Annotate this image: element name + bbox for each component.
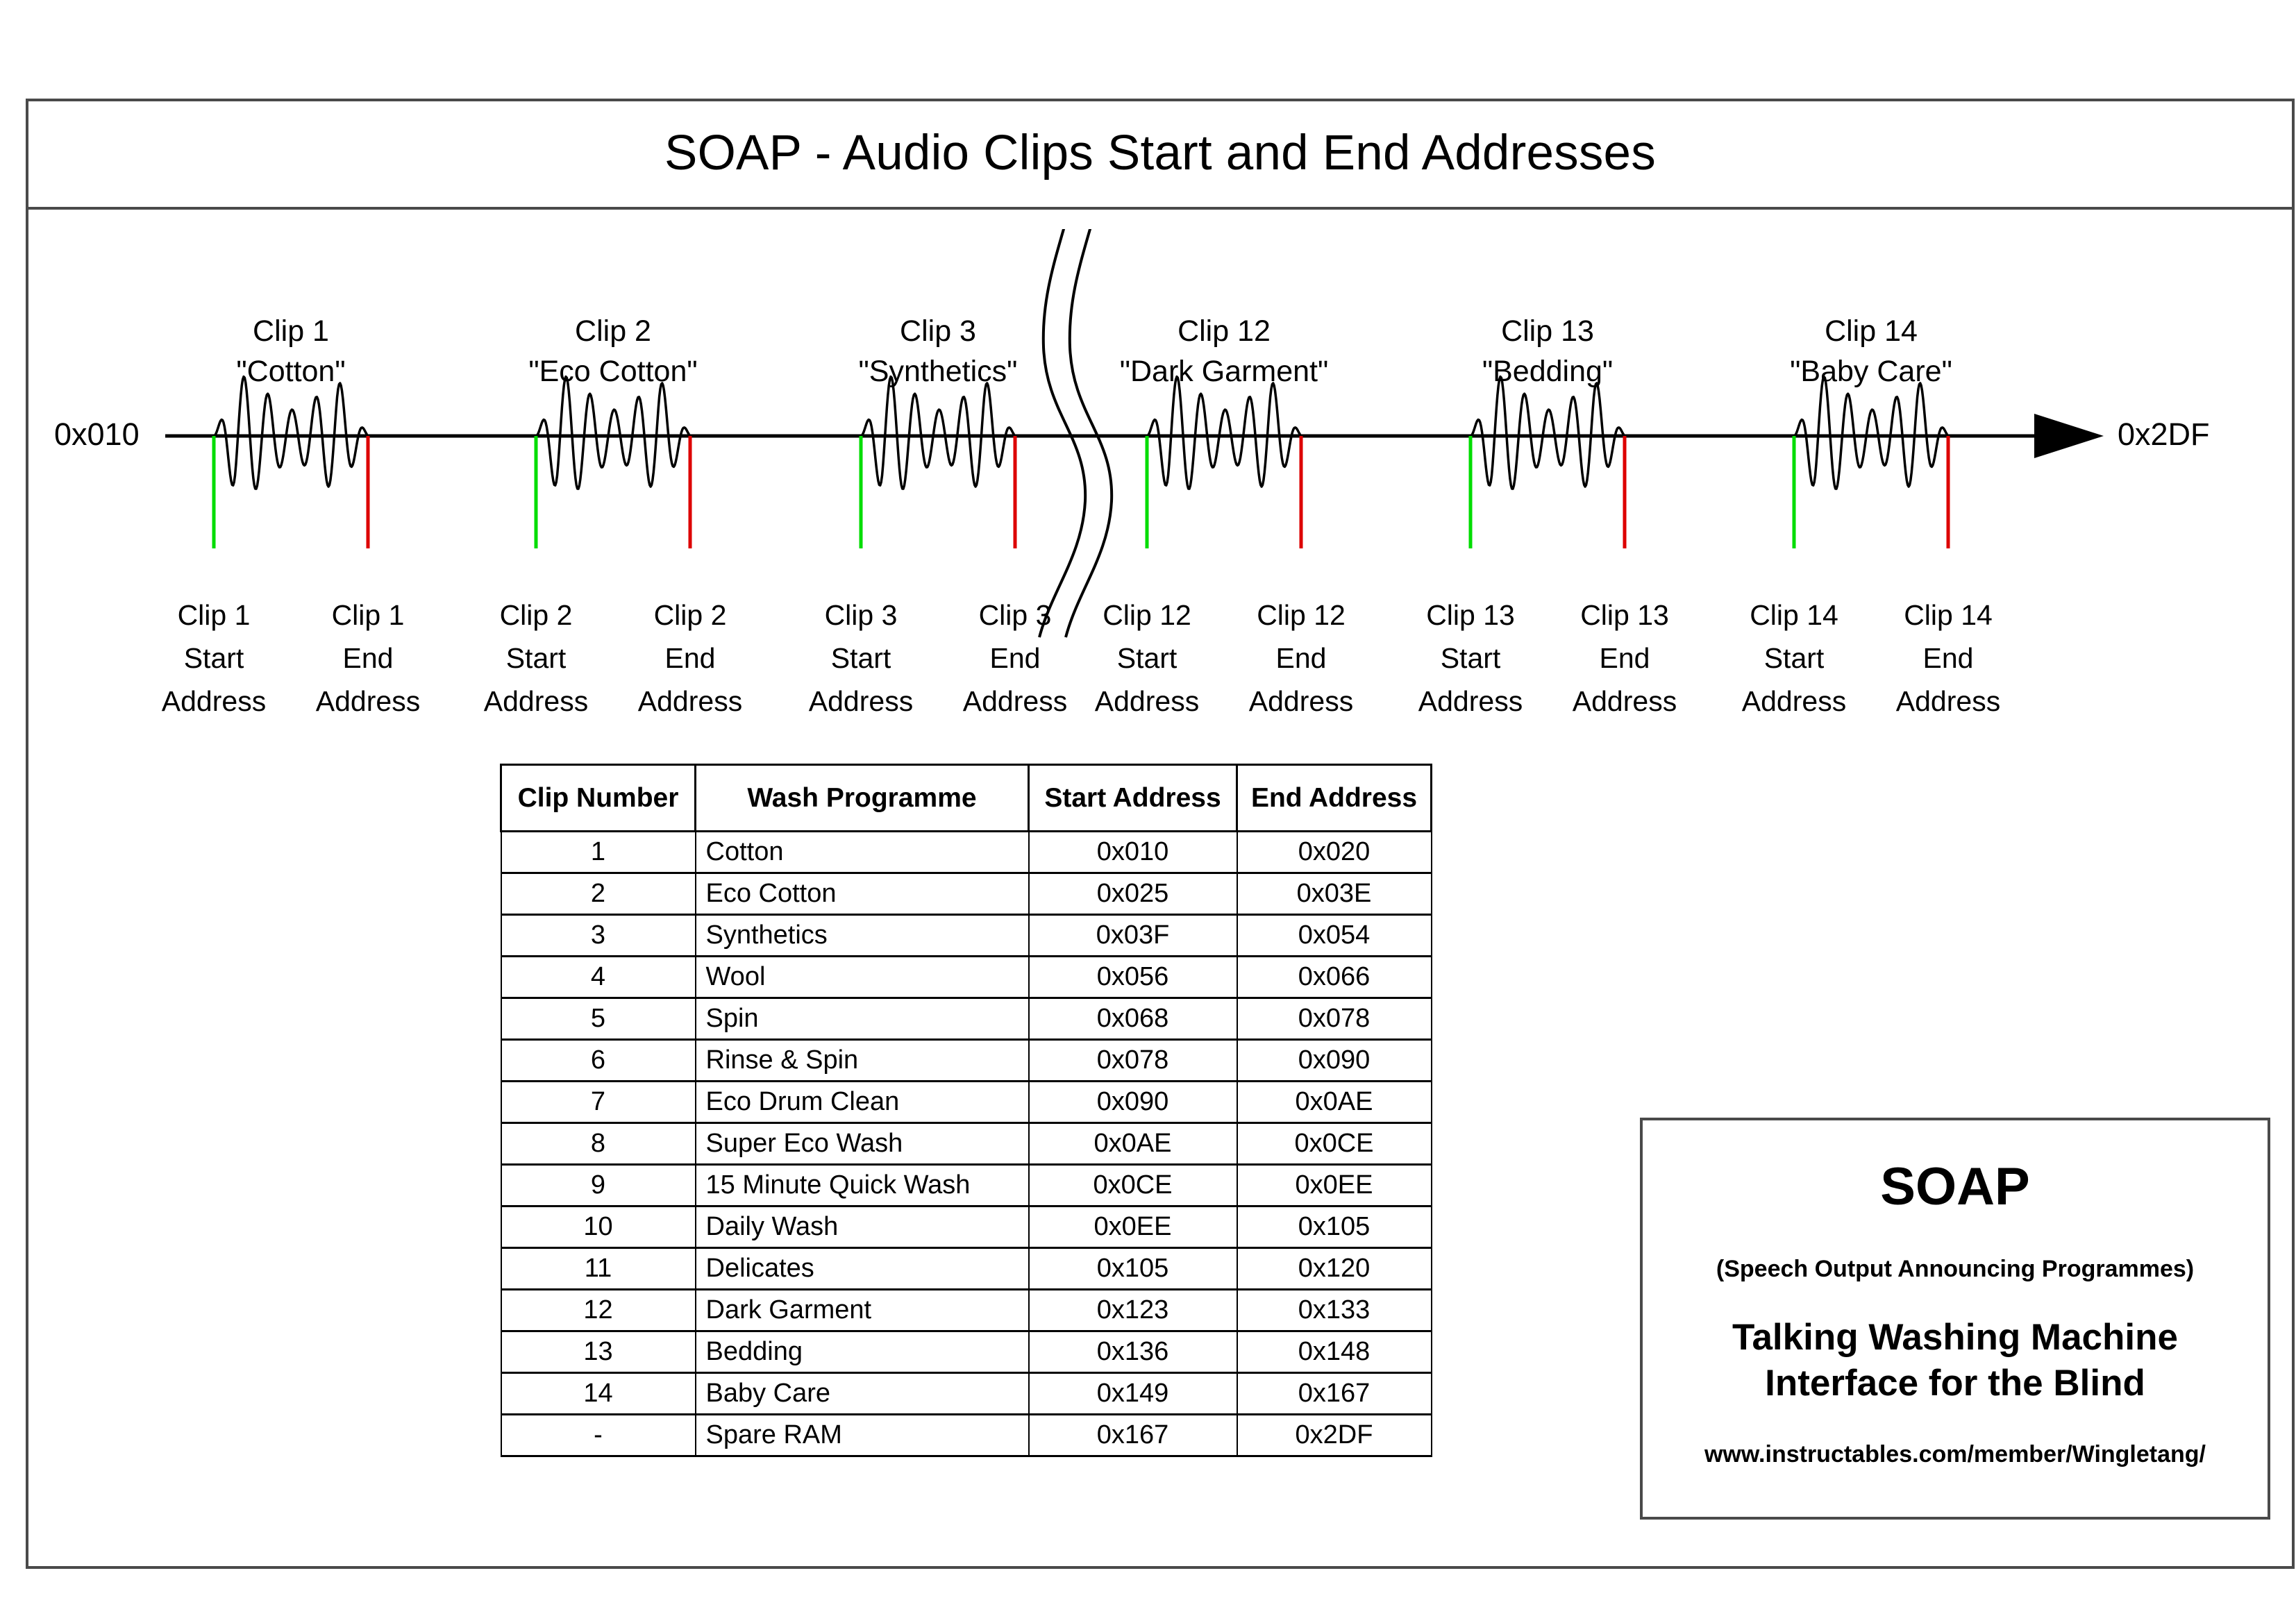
- clip-waveform: [214, 377, 368, 489]
- table-cell-prog: 15 Minute Quick Wash: [696, 1165, 1029, 1206]
- info-box: SOAP (Speech Output Announcing Programme…: [1640, 1118, 2270, 1520]
- break-gap: [1052, 229, 1107, 233]
- table-cell-prog: Synthetics: [696, 915, 1029, 957]
- clip-top-label: Clip 2"Eco Cotton": [433, 311, 794, 392]
- info-url[interactable]: www.instructables.com/member/Wingletang/: [1643, 1441, 2268, 1468]
- table-cell-end: 0x066: [1237, 957, 1432, 998]
- table-cell-num: 14: [501, 1373, 696, 1415]
- table-cell-start: 0x123: [1029, 1290, 1237, 1331]
- clip-programme: "Bedding": [1367, 351, 1728, 392]
- table-cell-num: 11: [501, 1248, 696, 1290]
- table-cell-start: 0x0EE: [1029, 1206, 1237, 1248]
- table-cell-start: 0x010: [1029, 832, 1237, 873]
- table-header-row: Clip Number Wash Programme Start Address…: [501, 765, 1432, 832]
- timeline-break-icon: [1039, 229, 1089, 637]
- table-cell-prog: Bedding: [696, 1331, 1029, 1373]
- table-cell-end: 0x090: [1237, 1040, 1432, 1082]
- clip-name: Clip 1: [110, 311, 471, 351]
- table-cell-num: 4: [501, 957, 696, 998]
- table-row: 1Cotton0x0100x020: [501, 832, 1432, 873]
- table-cell-prog: Dark Garment: [696, 1290, 1029, 1331]
- clip-name: Clip 2: [433, 311, 794, 351]
- clip-top-label: Clip 1"Cotton": [110, 311, 471, 392]
- table-cell-prog: Rinse & Spin: [696, 1040, 1029, 1082]
- table-head: Clip Number Wash Programme Start Address…: [501, 765, 1432, 832]
- table-cell-start: 0x090: [1029, 1082, 1237, 1123]
- table-cell-num: 2: [501, 873, 696, 915]
- title-band: SOAP - Audio Clips Start and End Address…: [26, 99, 2295, 210]
- address-table: Clip Number Wash Programme Start Address…: [500, 764, 1432, 1457]
- info-subtitle-line1: Talking Washing Machine: [1643, 1315, 2268, 1361]
- table-cell-end: 0x078: [1237, 998, 1432, 1040]
- table-cell-prog: Baby Care: [696, 1373, 1029, 1415]
- th-clip-number: Clip Number: [501, 765, 696, 832]
- table-row: 4Wool0x0560x066: [501, 957, 1432, 998]
- table-cell-prog: Cotton: [696, 832, 1029, 873]
- clip-waveform: [861, 377, 1015, 489]
- clip-name: Clip 12: [1044, 311, 1405, 351]
- clip-top-label: Clip 14"Baby Care": [1691, 311, 2052, 392]
- th-start-address: Start Address: [1029, 765, 1237, 832]
- table-cell-start: 0x0CE: [1029, 1165, 1237, 1206]
- table-cell-start: 0x03F: [1029, 915, 1237, 957]
- clip-programme: "Cotton": [110, 351, 471, 392]
- table-cell-start: 0x167: [1029, 1415, 1237, 1456]
- table-body: 1Cotton0x0100x0202Eco Cotton0x0250x03E3S…: [501, 832, 1432, 1456]
- table-cell-end: 0x105: [1237, 1206, 1432, 1248]
- clip-programme: "Eco Cotton": [433, 351, 794, 392]
- table-cell-num: 6: [501, 1040, 696, 1082]
- table-cell-prog: Daily Wash: [696, 1206, 1029, 1248]
- table-row: 2Eco Cotton0x0250x03E: [501, 873, 1432, 915]
- table-cell-num: 12: [501, 1290, 696, 1331]
- table-row: 7Eco Drum Clean0x0900x0AE: [501, 1082, 1432, 1123]
- clip-end-address-label: Clip 14EndAddress: [1837, 594, 2059, 723]
- table-cell-end: 0x167: [1237, 1373, 1432, 1415]
- table-cell-num: -: [501, 1415, 696, 1456]
- clip-waveform: [1794, 377, 1948, 489]
- table-row: 6Rinse & Spin0x0780x090: [501, 1040, 1432, 1082]
- clip-programme: "Baby Care": [1691, 351, 2052, 392]
- info-expansion: (Speech Output Announcing Programmes): [1643, 1256, 2268, 1283]
- info-acronym: SOAP: [1643, 1157, 2268, 1217]
- th-end-address: End Address: [1237, 765, 1432, 832]
- table-cell-start: 0x149: [1029, 1373, 1237, 1415]
- clip-name: Clip 14: [1691, 311, 2052, 351]
- table-row: 12Dark Garment0x1230x133: [501, 1290, 1432, 1331]
- table-cell-num: 7: [501, 1082, 696, 1123]
- th-wash-programme: Wash Programme: [696, 765, 1029, 832]
- info-subtitle-line2: Interface for the Blind: [1643, 1361, 2268, 1406]
- clip-waveform: [536, 377, 690, 489]
- info-subtitle: Talking Washing Machine Interface for th…: [1643, 1315, 2268, 1406]
- clip-programme: "Dark Garment": [1044, 351, 1405, 392]
- table-cell-num: 8: [501, 1123, 696, 1165]
- table-row: 11Delicates0x1050x120: [501, 1248, 1432, 1290]
- table-row: 8Super Eco Wash0x0AE0x0CE: [501, 1123, 1432, 1165]
- timeline-break-icon: [1066, 229, 1116, 637]
- table-cell-end: 0x03E: [1237, 873, 1432, 915]
- table-cell-start: 0x0AE: [1029, 1123, 1237, 1165]
- clip-waveform: [1470, 377, 1625, 489]
- table-row: 5Spin0x0680x078: [501, 998, 1432, 1040]
- table-cell-prog: Spare RAM: [696, 1415, 1029, 1456]
- timeline-arrow-icon: [2034, 414, 2104, 458]
- table-cell-prog: Delicates: [696, 1248, 1029, 1290]
- table-cell-prog: Super Eco Wash: [696, 1123, 1029, 1165]
- table-cell-start: 0x078: [1029, 1040, 1237, 1082]
- table-cell-num: 5: [501, 998, 696, 1040]
- table-row: 3Synthetics0x03F0x054: [501, 915, 1432, 957]
- table-cell-end: 0x148: [1237, 1331, 1432, 1373]
- timeline-end-address: 0x2DF: [2118, 417, 2210, 453]
- table-cell-start: 0x056: [1029, 957, 1237, 998]
- table-cell-end: 0x133: [1237, 1290, 1432, 1331]
- table-cell-start: 0x025: [1029, 873, 1237, 915]
- table-cell-num: 1: [501, 832, 696, 873]
- table-cell-end: 0x0AE: [1237, 1082, 1432, 1123]
- table-cell-end: 0x0EE: [1237, 1165, 1432, 1206]
- clip-name: Clip 13: [1367, 311, 1728, 351]
- table-cell-end: 0x2DF: [1237, 1415, 1432, 1456]
- table-cell-prog: Eco Drum Clean: [696, 1082, 1029, 1123]
- clip-waveform: [1147, 377, 1301, 489]
- table-cell-end: 0x020: [1237, 832, 1432, 873]
- table-cell-end: 0x120: [1237, 1248, 1432, 1290]
- page-title: SOAP - Audio Clips Start and End Address…: [664, 125, 1656, 181]
- timeline-start-address: 0x010: [54, 417, 140, 453]
- table-row: 915 Minute Quick Wash0x0CE0x0EE: [501, 1165, 1432, 1206]
- table-cell-end: 0x0CE: [1237, 1123, 1432, 1165]
- table-cell-num: 9: [501, 1165, 696, 1206]
- table-cell-num: 3: [501, 915, 696, 957]
- table-row: 14Baby Care0x1490x167: [501, 1373, 1432, 1415]
- table-row: 13Bedding0x1360x148: [501, 1331, 1432, 1373]
- table-row: -Spare RAM0x1670x2DF: [501, 1415, 1432, 1456]
- table-cell-prog: Spin: [696, 998, 1029, 1040]
- table-cell-start: 0x136: [1029, 1331, 1237, 1373]
- clip-top-label: Clip 13"Bedding": [1367, 311, 1728, 392]
- table-cell-num: 10: [501, 1206, 696, 1248]
- table-cell-start: 0x105: [1029, 1248, 1237, 1290]
- table-cell-prog: Wool: [696, 957, 1029, 998]
- clip-top-label: Clip 12"Dark Garment": [1044, 311, 1405, 392]
- table-cell-start: 0x068: [1029, 998, 1237, 1040]
- table-cell-prog: Eco Cotton: [696, 873, 1029, 915]
- table-cell-end: 0x054: [1237, 915, 1432, 957]
- table-cell-num: 13: [501, 1331, 696, 1373]
- table-row: 10Daily Wash0x0EE0x105: [501, 1206, 1432, 1248]
